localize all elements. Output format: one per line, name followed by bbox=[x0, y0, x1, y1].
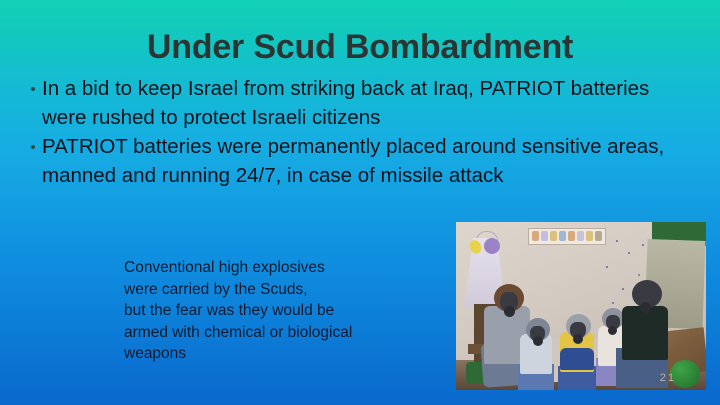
gas-mask-family-photo: 21 bbox=[456, 222, 706, 390]
bullet-text: PATRIOT batteries were permanently place… bbox=[42, 132, 672, 190]
bullet-text: In a bid to keep Israel from striking ba… bbox=[42, 74, 672, 132]
purple-balloon-icon bbox=[484, 238, 500, 254]
person-child-b-trousers bbox=[560, 348, 594, 370]
list-item: • PATRIOT batteries were permanently pla… bbox=[24, 132, 696, 190]
bullet-list: • In a bid to keep Israel from striking … bbox=[24, 74, 696, 190]
gas-mask-filter-icon bbox=[504, 306, 515, 317]
person-man-body bbox=[622, 306, 668, 360]
slide-title: Under Scud Bombardment bbox=[0, 27, 720, 67]
bullet-marker-icon: • bbox=[24, 74, 42, 104]
wall-frieze-icon bbox=[528, 228, 606, 245]
photo-watermark: 21 bbox=[660, 372, 676, 384]
presentation-slide: Under Scud Bombardment • In a bid to kee… bbox=[0, 0, 720, 405]
photo-caption: Conventional high explosives were carrie… bbox=[124, 257, 352, 365]
gas-mask-filter-icon bbox=[533, 336, 543, 346]
gas-mask-filter-icon bbox=[640, 302, 651, 313]
gas-mask-filter-icon bbox=[608, 326, 617, 335]
bullet-marker-icon: • bbox=[24, 132, 42, 162]
list-item: • In a bid to keep Israel from striking … bbox=[24, 74, 696, 132]
gas-mask-filter-icon bbox=[573, 334, 583, 344]
